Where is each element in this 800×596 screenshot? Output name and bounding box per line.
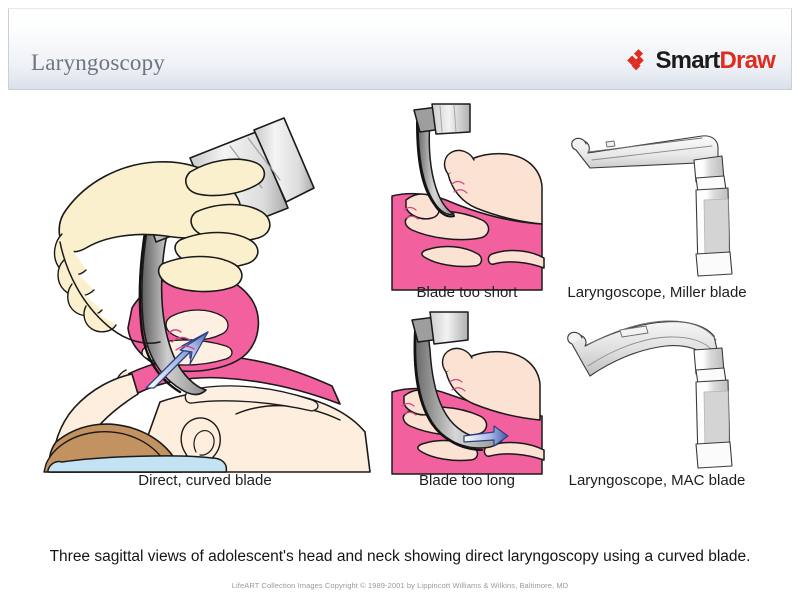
panel-direct-curved-blade: [40, 102, 370, 472]
panel-blade-too-short: [388, 104, 546, 294]
sagittal-blade-too-short-illustration: [388, 104, 546, 294]
header-bar: Laryngoscopy SmartDraw: [8, 8, 792, 90]
panel-mac-blade: [562, 310, 752, 472]
miller-blade-instrument: [562, 122, 752, 282]
page-title: Laryngoscopy: [31, 50, 165, 76]
mac-blade-instrument: [562, 310, 752, 472]
smartdraw-diamonds-icon: [624, 49, 648, 73]
copyright-notice: LifeART Collection Images Copyright © 19…: [0, 581, 800, 590]
caption-direct-curved-blade: Direct, curved blade: [40, 472, 370, 489]
sagittal-blade-too-long-illustration: [388, 320, 546, 478]
panel-blade-too-long: [388, 320, 546, 478]
caption-mac-blade: Laryngoscope, MAC blade: [552, 472, 762, 489]
laryngoscopy-hand-sagittal-illustration: [40, 102, 370, 472]
caption-miller-blade: Laryngoscope, Miller blade: [552, 284, 762, 301]
brand-name-draw: Draw: [720, 47, 776, 74]
caption-blade-too-long: Blade too long: [388, 472, 546, 489]
caption-blade-too-short: Blade too short: [388, 284, 546, 301]
brand-name-smart: Smart: [655, 47, 719, 74]
figure-caption: Three sagittal views of adolescent's hea…: [0, 548, 800, 566]
smartdraw-logo[interactable]: SmartDraw: [624, 49, 775, 73]
illustration-area: Direct, curved blade: [0, 92, 800, 540]
panel-miller-blade: [562, 122, 752, 282]
